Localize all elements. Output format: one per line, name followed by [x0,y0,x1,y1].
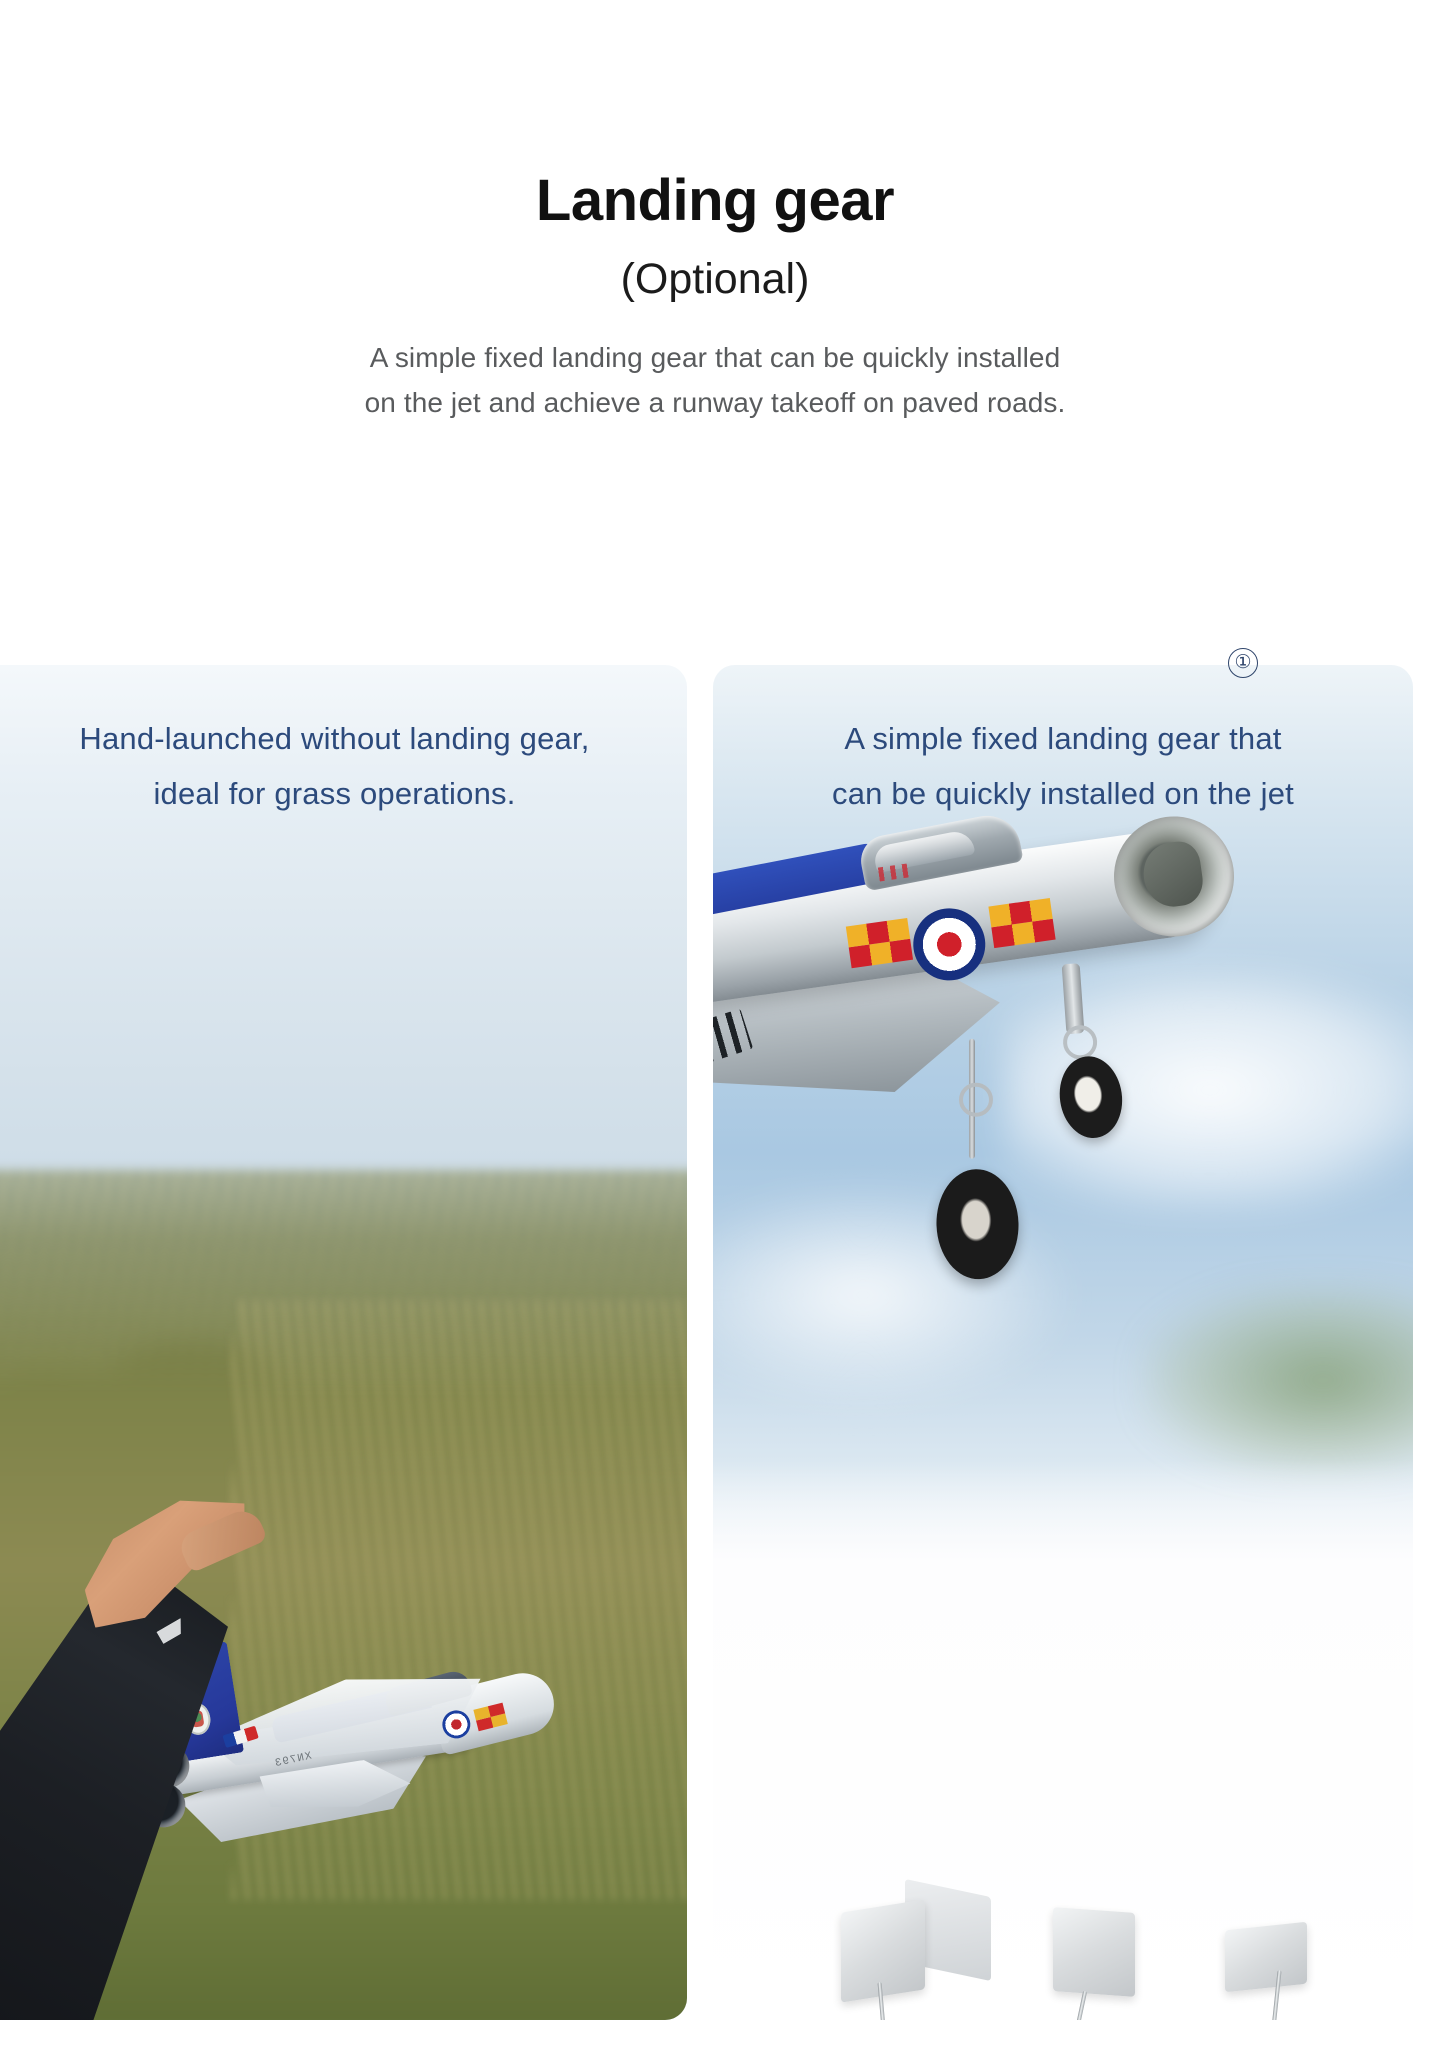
main-gear-leg [969,1039,975,1159]
panel-hand-launch[interactable]: A XN793 Hand-launched without landing ge… [0,665,687,2020]
mount-plate [1225,1922,1307,1993]
circled-number-marker: ① [1228,648,1258,678]
photo-hand-launch: A XN793 [0,665,687,2020]
landing-gear-page: Landing gear (Optional) A simple fixed l… [0,0,1430,2050]
nose-gear-leg [1062,963,1085,1034]
background-foliage [1143,1285,1413,1475]
page-description: A simple fixed landing gear that can be … [0,335,1430,426]
caption-line-2: can be quickly installed on the jet [713,766,1413,821]
mount-plate [1053,1907,1135,1997]
landing-gear-parts [713,1550,1413,2020]
page-subtitle: (Optional) [0,258,1430,301]
page-title: Landing gear [0,172,1430,230]
panel-caption-hand-launch: Hand-launched without landing gear, idea… [0,665,687,821]
photo-fixed-landing-gear [713,665,1413,2020]
nose-gear-wheel [1055,1052,1128,1142]
gear-wire-upper [1063,1991,1087,2020]
caption-line-1: A simple fixed landing gear that [713,711,1413,766]
mount-plate [841,1899,925,2002]
jet-checker-left [846,918,913,968]
panel-fixed-landing-gear[interactable]: A simple fixed landing gear that can be … [713,665,1413,2020]
panel-caption-fixed-landing-gear: A simple fixed landing gear that can be … [713,665,1413,821]
jet-checker-right [988,898,1055,948]
page-header: Landing gear (Optional) A simple fixed l… [0,0,1430,426]
feature-panels: A XN793 Hand-launched without landing ge… [0,665,1430,2025]
description-line-2: on the jet and achieve a runway takeoff … [0,380,1430,425]
description-line-1: A simple fixed landing gear that can be … [0,335,1430,380]
caption-line-1: Hand-launched without landing gear, [0,711,687,766]
caption-line-2: ideal for grass operations. [0,766,687,821]
